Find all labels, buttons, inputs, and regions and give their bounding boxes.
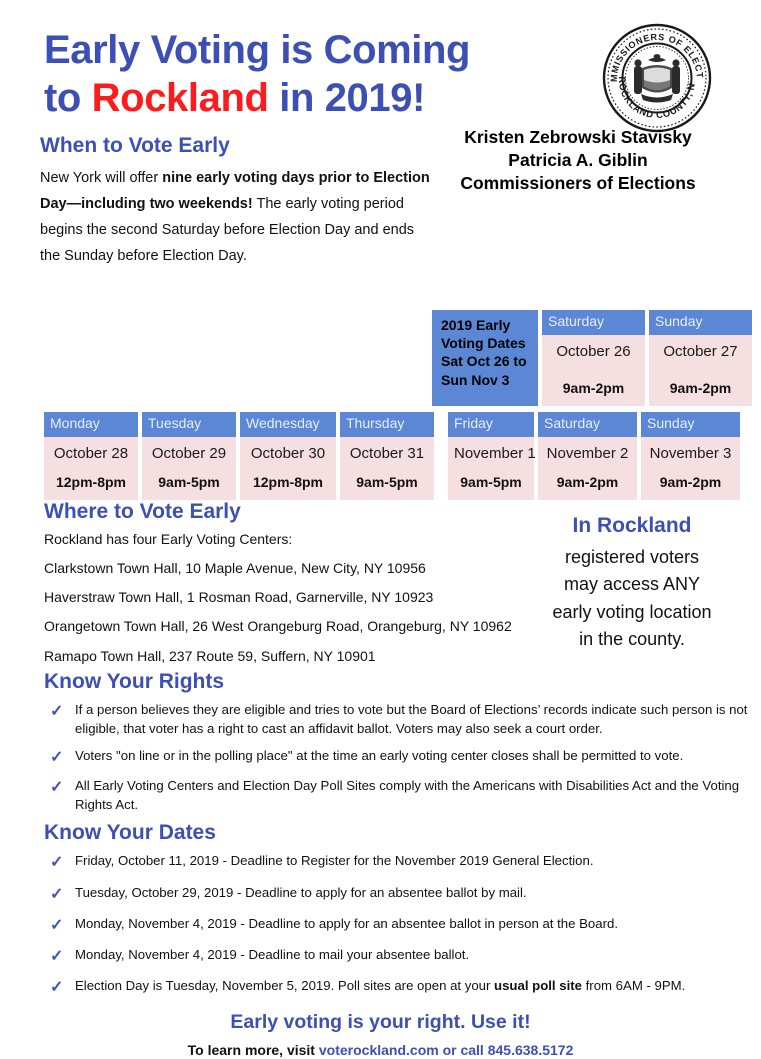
calendar-day-time: 9am-5pm <box>346 474 428 491</box>
commissioner-name-1: Kristen Zebrowski Stavisky <box>432 126 724 149</box>
check-icon: ✓ <box>44 746 75 769</box>
voting-center-item: Ramapo Town Hall, 237 Route 59, Suffern,… <box>44 649 544 664</box>
list-item: ✓ All Early Voting Centers and Election … <box>44 776 750 815</box>
title-line-1-text: Early Voting is Coming <box>44 28 470 72</box>
where-section: Where to Vote Early Rockland has four Ea… <box>0 500 761 670</box>
promo-line-4: Sun Nov 3 <box>441 371 531 389</box>
calendar-day-time: 9am-2pm <box>655 380 746 397</box>
title-line-2-suffix: in 2019! <box>269 76 425 120</box>
election-day-text-part-2: from 6AM - 9PM. <box>582 978 685 993</box>
when-to-vote-heading: When to Vote Early <box>40 134 432 158</box>
footer-slogan: Early voting is your right. Use it! <box>0 1011 761 1034</box>
check-icon: ✓ <box>44 976 75 999</box>
calendar-promo-cell: 2019 Early Voting Dates Sat Oct 26 to Su… <box>432 310 538 406</box>
calendar-day-header: Tuesday <box>142 412 236 437</box>
calendar-day-date: October 26 <box>548 343 639 361</box>
list-item-text: Monday, November 4, 2019 - Deadline to m… <box>75 945 750 964</box>
list-item: ✓ Election Day is Tuesday, November 5, 2… <box>44 976 750 999</box>
calendar-day-date: November 3 <box>647 445 734 463</box>
calendar-day-time: 9am-2pm <box>647 474 734 491</box>
calendar-day-time: 9am-5pm <box>454 474 528 491</box>
calendar-day-header: Thursday <box>340 412 434 437</box>
check-icon: ✓ <box>44 776 75 799</box>
list-item-text: Election Day is Tuesday, November 5, 201… <box>75 976 750 995</box>
when-paragraph-part-1: New York will offer <box>40 170 162 186</box>
list-item-text: If a person believes they are eligible a… <box>75 700 750 739</box>
promo-line-1: 2019 Early <box>441 316 531 334</box>
list-item-text: Tuesday, October 29, 2019 - Deadline to … <box>75 883 750 902</box>
voting-center-item: Orangetown Town Hall, 26 West Orangeburg… <box>44 619 544 634</box>
calendar-day-body: October 29 9am-5pm <box>142 437 236 500</box>
calendar-day-body: October 27 9am-2pm <box>649 335 752 406</box>
calendar-day-header: Wednesday <box>240 412 336 437</box>
check-icon: ✓ <box>44 851 75 874</box>
know-your-rights-heading: Know Your Rights <box>44 670 750 693</box>
calendar-day-body: October 26 9am-2pm <box>542 335 645 406</box>
calendar-row-1: 2019 Early Voting Dates Sat Oct 26 to Su… <box>432 310 752 406</box>
list-item-text: All Early Voting Centers and Election Da… <box>75 776 750 815</box>
calendar-row-2-wrapper: Monday October 28 12pm-8pm Tuesday Octob… <box>0 412 761 500</box>
calendar-day-date: November 1 <box>454 445 528 463</box>
in-rockland-line: registered voters <box>516 544 748 571</box>
calendar-day-body: November 2 9am-2pm <box>538 437 637 500</box>
list-item-text: Friday, October 11, 2019 - Deadline to R… <box>75 851 750 870</box>
calendar-day-cell: Friday November 1 9am-5pm <box>448 412 534 500</box>
upper-section: When to Vote Early New York will offer n… <box>0 126 761 308</box>
calendar-day-date: October 31 <box>346 445 428 463</box>
commissioners-title: Commissioners of Elections <box>432 172 724 195</box>
calendar-day-header: Sunday <box>641 412 740 437</box>
check-icon: ✓ <box>44 914 75 937</box>
calendar-day-header: Saturday <box>542 310 645 335</box>
check-icon: ✓ <box>44 700 75 723</box>
promo-line-3: Sat Oct 26 to <box>441 352 531 370</box>
list-item: ✓ Voters "on line or in the polling plac… <box>44 746 750 769</box>
where-to-vote-column: Where to Vote Early Rockland has four Ea… <box>44 500 544 678</box>
calendar-day-body: October 31 9am-5pm <box>340 437 434 500</box>
election-day-text-part-1: Election Day is Tuesday, November 5, 201… <box>75 978 494 993</box>
calendar-day-time: 9am-2pm <box>544 474 631 491</box>
calendar-day-body: November 1 9am-5pm <box>448 437 534 500</box>
title-rockland-highlight: Rockland <box>92 76 269 120</box>
where-to-vote-heading: Where to Vote Early <box>44 500 544 524</box>
rockland-county-elections-seal-icon: · COMMISSIONERS OF ELECTION · ROCKLAND C… <box>601 22 713 134</box>
footer-contact-prefix: To learn more, visit <box>188 1042 319 1058</box>
know-your-rights-section: Know Your Rights ✓ If a person believes … <box>44 670 750 814</box>
calendar-day-header: Monday <box>44 412 138 437</box>
calendar-day-header: Saturday <box>538 412 637 437</box>
election-day-emphasis: usual poll site <box>494 978 582 993</box>
list-item: ✓ Tuesday, October 29, 2019 - Deadline t… <box>44 883 750 906</box>
calendar-day-cell: Thursday October 31 9am-5pm <box>340 412 434 500</box>
check-icon: ✓ <box>44 945 75 968</box>
calendar-day-cell: Tuesday October 29 9am-5pm <box>142 412 236 500</box>
title-line-2-prefix: to <box>44 76 92 120</box>
list-item: ✓ Monday, November 4, 2019 - Deadline to… <box>44 945 750 968</box>
list-item: ✓ If a person believes they are eligible… <box>44 700 750 739</box>
calendar-day-body: November 3 9am-2pm <box>641 437 740 500</box>
list-item: ✓ Friday, October 11, 2019 - Deadline to… <box>44 851 750 874</box>
calendar-day-time: 12pm-8pm <box>50 474 132 491</box>
calendar-day-body: October 28 12pm-8pm <box>44 437 138 500</box>
know-your-dates-section: Know Your Dates ✓ Friday, October 11, 20… <box>44 821 750 999</box>
calendar-day-date: October 27 <box>655 343 746 361</box>
calendar-day-cell: Saturday October 26 9am-2pm <box>542 310 645 406</box>
commissioners-block: Kristen Zebrowski Stavisky Patricia A. G… <box>432 126 724 194</box>
calendar-day-header: Friday <box>448 412 534 437</box>
title-line-2: to Rockland in 2019! <box>44 74 584 122</box>
list-item-text: Voters "on line or in the polling place"… <box>75 746 750 765</box>
promo-line-2: Voting Dates <box>441 334 531 352</box>
early-voting-calendar: 2019 Early Voting Dates Sat Oct 26 to Su… <box>0 308 761 500</box>
calendar-day-header: Sunday <box>649 310 752 335</box>
footer-contact: To learn more, visit voterockland.com or… <box>0 1042 761 1059</box>
check-icon: ✓ <box>44 883 75 906</box>
calendar-row-1-wrapper: 2019 Early Voting Dates Sat Oct 26 to Su… <box>0 310 761 406</box>
calendar-day-cell: Sunday November 3 9am-2pm <box>641 412 740 500</box>
calendar-promo-label: 2019 Early Voting Dates Sat Oct 26 to Su… <box>432 310 538 406</box>
calendar-day-cell: Wednesday October 30 12pm-8pm <box>240 412 336 500</box>
calendar-day-cell: Monday October 28 12pm-8pm <box>44 412 138 500</box>
commissioner-name-2: Patricia A. Giblin <box>432 149 724 172</box>
calendar-day-time: 9am-5pm <box>148 474 230 491</box>
in-rockland-line: in the county. <box>516 626 748 653</box>
page-title: Early Voting is Coming to Rockland in 20… <box>44 26 584 123</box>
calendar-day-date: October 30 <box>246 445 330 463</box>
where-subtitle: Rockland has four Early Voting Centers: <box>44 532 544 547</box>
calendar-day-cell: Saturday November 2 9am-2pm <box>538 412 637 500</box>
in-rockland-line: early voting location <box>516 599 748 626</box>
calendar-row-2: Monday October 28 12pm-8pm Tuesday Octob… <box>44 412 740 500</box>
calendar-day-date: October 29 <box>148 445 230 463</box>
when-to-vote-paragraph: New York will offer nine early voting da… <box>40 166 432 269</box>
calendar-day-date: October 28 <box>50 445 132 463</box>
in-rockland-callout: In Rockland registered voters may access… <box>516 514 748 654</box>
voting-center-item: Clarkstown Town Hall, 10 Maple Avenue, N… <box>44 561 544 576</box>
calendar-day-date: November 2 <box>544 445 631 463</box>
list-item: ✓ Monday, November 4, 2019 - Deadline to… <box>44 914 750 937</box>
list-item-text: Monday, November 4, 2019 - Deadline to a… <box>75 914 750 933</box>
calendar-day-time: 9am-2pm <box>548 380 639 397</box>
calendar-day-cell: Sunday October 27 9am-2pm <box>649 310 752 406</box>
in-rockland-heading: In Rockland <box>516 514 748 537</box>
know-your-dates-heading: Know Your Dates <box>44 821 750 844</box>
footer-website-link[interactable]: voterockland.com or call 845.638.5172 <box>319 1042 573 1058</box>
poster-footer: Early voting is your right. Use it! To l… <box>0 1011 761 1058</box>
in-rockland-line: may access ANY <box>516 571 748 598</box>
voting-center-item: Haverstraw Town Hall, 1 Rosman Road, Gar… <box>44 590 544 605</box>
poster-header: Early Voting is Coming to Rockland in 20… <box>0 0 761 126</box>
title-line-1: Early Voting is Coming <box>44 26 584 74</box>
when-to-vote-column: When to Vote Early New York will offer n… <box>40 134 432 269</box>
calendar-day-time: 12pm-8pm <box>246 474 330 491</box>
calendar-day-body: October 30 12pm-8pm <box>240 437 336 500</box>
